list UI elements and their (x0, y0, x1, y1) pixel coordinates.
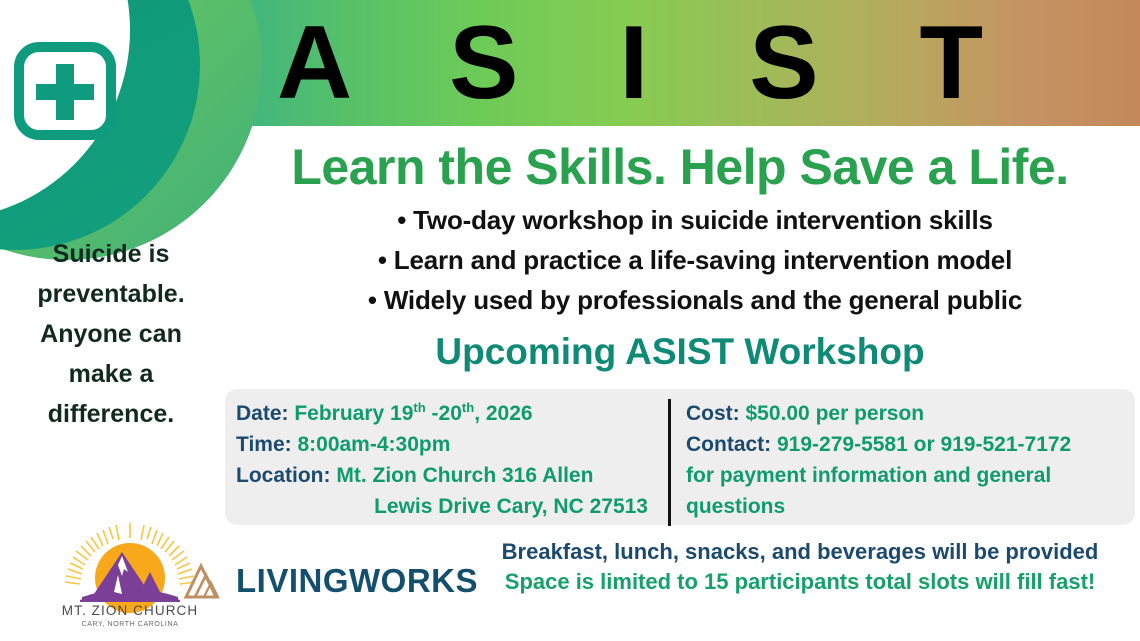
list-item: • Learn and practice a life-saving inter… (300, 240, 1090, 280)
list-item: • Two-day workshop in suicide interventi… (300, 200, 1090, 240)
detail-row-contact: Contact: 919-279-5581 or 919-521-7172 (686, 429, 1136, 460)
quote-line-1: Suicide is (8, 234, 214, 274)
livingworks-mark-icon (182, 560, 226, 600)
detail-value-contact-line3: questions (686, 491, 1136, 522)
details-right-column: Cost: $50.00 per person Contact: 919-279… (686, 398, 1136, 522)
livingworks-logo: LIVINGWORKS (182, 555, 444, 605)
quote-line-5: difference. (8, 394, 214, 434)
detail-value-date-mid: -20 (426, 402, 462, 425)
detail-label-time: Time: (236, 433, 292, 456)
detail-row-location: Location: Mt. Zion Church 316 Allen (236, 460, 656, 491)
feature-bullet-list: • Two-day workshop in suicide interventi… (300, 200, 1090, 320)
detail-value-contact-line2: for payment information and general (686, 460, 1136, 491)
mt-zion-name: MT. ZION CHURCH (62, 603, 199, 618)
sidebar-quote: Suicide is preventable. Anyone can make … (8, 234, 214, 434)
detail-row-date: Date: February 19th -20th, 2026 (236, 398, 656, 429)
flyer-canvas: A S I S T Suicide is preventable. Anyone… (0, 0, 1140, 641)
livingworks-wordmark: LIVINGWORKS (236, 564, 478, 597)
detail-value-location: Mt. Zion Church 316 Allen (331, 464, 594, 487)
detail-row-time: Time: 8:00am-4:30pm (236, 429, 656, 460)
details-left-column: Date: February 19th -20th, 2026 Time: 8:… (236, 398, 656, 522)
detail-label-location: Location: (236, 464, 331, 487)
detail-value-cost: $50.00 per person (740, 402, 924, 425)
detail-value-location-line2: Lewis Drive Cary, NC 27513 (236, 491, 656, 522)
list-item: • Widely used by professionals and the g… (300, 280, 1090, 320)
quote-line-4: make a (8, 354, 214, 394)
detail-label-date: Date: (236, 402, 289, 425)
detail-value-date-post: , 2026 (474, 402, 532, 425)
quote-line-3: Anyone can (8, 314, 214, 354)
footer-line-2: Space is limited to 15 participants tota… (460, 567, 1140, 597)
quote-line-2: preventable. (8, 274, 214, 314)
detail-row-cost: Cost: $50.00 per person (686, 398, 1136, 429)
detail-label-contact: Contact: (686, 433, 771, 456)
tagline: Learn the Skills. Help Save a Life. (225, 138, 1135, 196)
detail-value-date-sup1: th (413, 400, 425, 415)
detail-value-time: 8:00am-4:30pm (292, 433, 451, 456)
mt-zion-subtitle: CARY, NORTH CAROLINA (82, 621, 179, 628)
detail-label-cost: Cost: (686, 402, 740, 425)
medical-cross-icon (14, 42, 116, 140)
details-column-divider (668, 399, 671, 526)
detail-value-date-pre: February 19 (289, 402, 414, 425)
footer-note: Breakfast, lunch, snacks, and beverages … (460, 537, 1140, 597)
detail-value-date-sup2: th (462, 400, 474, 415)
section-heading: Upcoming ASIST Workshop (250, 330, 1110, 374)
footer-line-1: Breakfast, lunch, snacks, and beverages … (460, 537, 1140, 567)
detail-value-contact: 919-279-5581 or 919-521-7172 (771, 433, 1071, 456)
